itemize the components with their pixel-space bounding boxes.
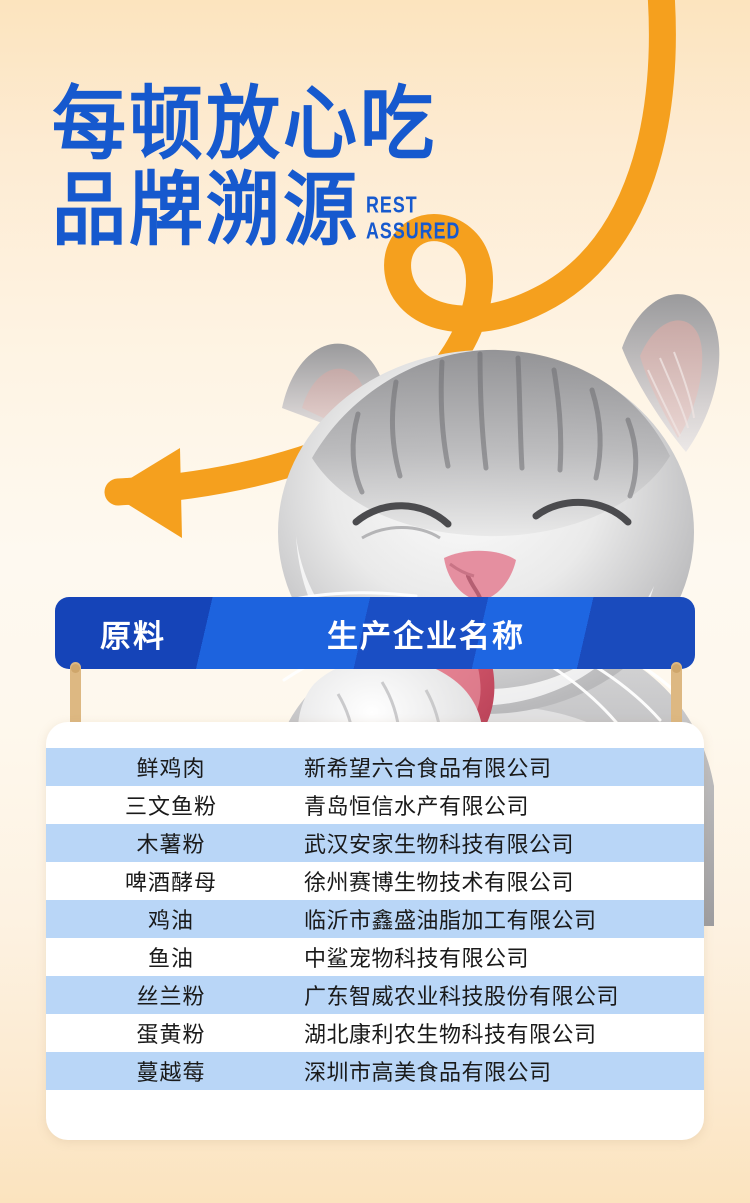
cell-company: 湖北康利农生物科技有限公司 (296, 1017, 704, 1049)
column-header-material: 原料 (100, 611, 166, 656)
headline-line-2: 品牌溯源 (52, 164, 360, 257)
headline-block: 每顿放心吃 品牌溯源 REST ASSURED (52, 78, 612, 250)
cell-material: 啤酒酵母 (46, 865, 296, 897)
cell-material: 蛋黄粉 (46, 1017, 296, 1049)
cell-material: 木薯粉 (46, 827, 296, 859)
english-subtitle: REST ASSURED (366, 192, 460, 244)
cell-company: 广东智威农业科技股份有限公司 (296, 979, 704, 1011)
ingredient-table-rows: 鲜鸡肉新希望六合食品有限公司三文鱼粉青岛恒信水产有限公司木薯粉武汉安家生物科技有… (46, 748, 704, 1090)
cell-company: 中鲨宠物科技有限公司 (296, 941, 704, 973)
cell-material: 丝兰粉 (46, 979, 296, 1011)
cell-material: 三文鱼粉 (46, 789, 296, 821)
headline-line-1: 每顿放心吃 (52, 78, 612, 171)
cell-company: 深圳市高美食品有限公司 (296, 1055, 704, 1087)
table-row: 丝兰粉广东智威农业科技股份有限公司 (46, 976, 704, 1014)
cell-material: 蔓越莓 (46, 1055, 296, 1087)
column-header-company: 生产企业名称 (327, 611, 525, 656)
cell-company: 青岛恒信水产有限公司 (296, 789, 704, 821)
ingredient-table-card: 鲜鸡肉新希望六合食品有限公司三文鱼粉青岛恒信水产有限公司木薯粉武汉安家生物科技有… (46, 722, 704, 1140)
table-row: 啤酒酵母徐州赛博生物技术有限公司 (46, 862, 704, 900)
table-header-bar: 原料 生产企业名称 (55, 597, 695, 669)
table-row: 鸡油临沂市鑫盛油脂加工有限公司 (46, 900, 704, 938)
headline-line-2-row: 品牌溯源 REST ASSURED (52, 164, 612, 250)
table-row: 木薯粉武汉安家生物科技有限公司 (46, 824, 704, 862)
cell-company: 临沂市鑫盛油脂加工有限公司 (296, 903, 704, 935)
cell-company: 武汉安家生物科技有限公司 (296, 827, 704, 859)
english-subtitle-line-2: ASSURED (366, 218, 460, 244)
table-row: 鲜鸡肉新希望六合食品有限公司 (46, 748, 704, 786)
cell-company: 新希望六合食品有限公司 (296, 751, 704, 783)
table-row: 蔓越莓深圳市高美食品有限公司 (46, 1052, 704, 1090)
cell-material: 鲜鸡肉 (46, 751, 296, 783)
cell-company: 徐州赛博生物技术有限公司 (296, 865, 704, 897)
cell-material: 鱼油 (46, 941, 296, 973)
table-row: 蛋黄粉湖北康利农生物科技有限公司 (46, 1014, 704, 1052)
english-subtitle-line-1: REST (366, 192, 460, 218)
table-row: 三文鱼粉青岛恒信水产有限公司 (46, 786, 704, 824)
cell-material: 鸡油 (46, 903, 296, 935)
poster-root: 每顿放心吃 品牌溯源 REST ASSURED 原料 生产企业名称 鲜鸡肉新希望… (0, 0, 750, 1203)
table-row: 鱼油中鲨宠物科技有限公司 (46, 938, 704, 976)
